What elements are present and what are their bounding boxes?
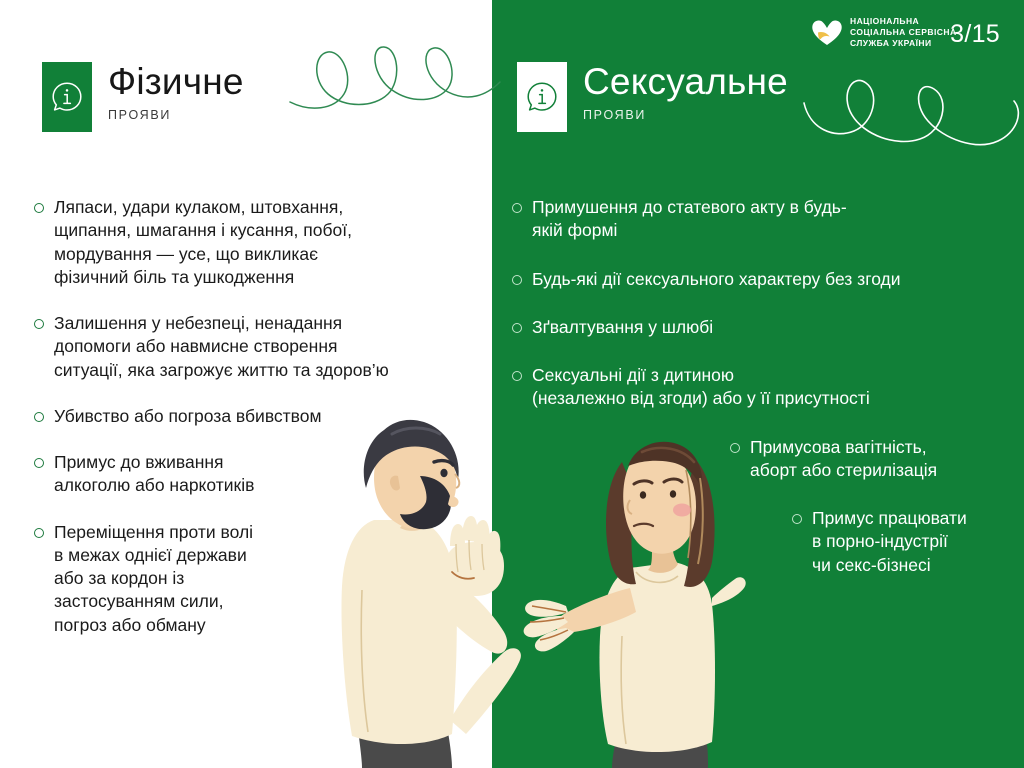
list-item-text: Убивство або погроза вбивством bbox=[54, 405, 322, 428]
man-confronting-woman-illustration bbox=[300, 400, 750, 768]
page-indicator: 3/15 bbox=[950, 20, 1000, 49]
left-section-title: Фізичне bbox=[108, 63, 244, 101]
bullet-dot-icon bbox=[34, 528, 44, 538]
list-item-text: Зґвалтування у шлюбі bbox=[532, 316, 713, 339]
list-item: Примусова вагітність, аборт або стериліз… bbox=[730, 436, 1012, 483]
bullet-dot-icon bbox=[512, 203, 522, 213]
info-speech-bubble-icon bbox=[42, 62, 92, 132]
list-item-text: Примус працювати в порно-індустрії чи се… bbox=[812, 507, 967, 577]
list-item-text: Залишення у небезпеці, ненадання допомог… bbox=[54, 312, 389, 382]
right-section-header: Сексуальне ПРОЯВИ bbox=[517, 62, 788, 132]
logo-wordmark: НАЦІОНАЛЬНА СОЦІАЛЬНА СЕРВІСНА СЛУЖБА УК… bbox=[850, 16, 957, 50]
bullet-dot-icon bbox=[34, 319, 44, 329]
bullet-dot-icon bbox=[792, 514, 802, 524]
slide-root: НАЦІОНАЛЬНА СОЦІАЛЬНА СЕРВІСНА СЛУЖБА УК… bbox=[0, 0, 1024, 768]
logo-line-3: СЛУЖБА УКРАЇНИ bbox=[850, 38, 957, 49]
bullet-dot-icon bbox=[512, 371, 522, 381]
list-item: Залишення у небезпеці, ненадання допомог… bbox=[34, 312, 474, 382]
list-item-text: Примушення до статевого акту в будь- які… bbox=[532, 196, 847, 243]
right-section-subtitle: ПРОЯВИ bbox=[583, 108, 788, 122]
right-header-text: Сексуальне ПРОЯВИ bbox=[583, 62, 788, 122]
heart-leaf-icon bbox=[810, 18, 844, 48]
list-item-text: Примус до вживання алкоголю або наркотик… bbox=[54, 451, 254, 498]
bullet-dot-icon bbox=[512, 323, 522, 333]
organization-logo: НАЦІОНАЛЬНА СОЦІАЛЬНА СЕРВІСНА СЛУЖБА УК… bbox=[810, 16, 957, 50]
list-item: Будь-які дії сексуального характеру без … bbox=[512, 268, 1012, 291]
right-section-title: Сексуальне bbox=[583, 63, 788, 101]
bullet-dot-icon bbox=[34, 412, 44, 422]
bullet-dot-icon bbox=[512, 275, 522, 285]
list-item-text: Ляпаси, удари кулаком, штовхання, щипанн… bbox=[54, 196, 352, 289]
bullet-dot-icon bbox=[34, 458, 44, 468]
left-section-header: Фізичне ПРОЯВИ bbox=[42, 62, 244, 132]
logo-line-2: СОЦІАЛЬНА СЕРВІСНА bbox=[850, 27, 957, 38]
left-header-text: Фізичне ПРОЯВИ bbox=[108, 62, 244, 122]
list-item-text: Переміщення проти волі в межах однієї де… bbox=[54, 521, 253, 637]
info-speech-bubble-icon bbox=[517, 62, 567, 132]
logo-line-1: НАЦІОНАЛЬНА bbox=[850, 16, 957, 27]
list-item: Примус працювати в порно-індустрії чи се… bbox=[792, 507, 1022, 577]
list-item: Примушення до статевого акту в будь- які… bbox=[512, 196, 1012, 243]
bullet-dot-icon bbox=[34, 203, 44, 213]
list-item-text: Примусова вагітність, аборт або стериліз… bbox=[750, 436, 937, 483]
list-item-text: Будь-які дії сексуального характеру без … bbox=[532, 268, 901, 291]
list-item: Зґвалтування у шлюбі bbox=[512, 316, 1012, 339]
left-section-subtitle: ПРОЯВИ bbox=[108, 108, 244, 122]
list-item: Ляпаси, удари кулаком, штовхання, щипанн… bbox=[34, 196, 474, 289]
